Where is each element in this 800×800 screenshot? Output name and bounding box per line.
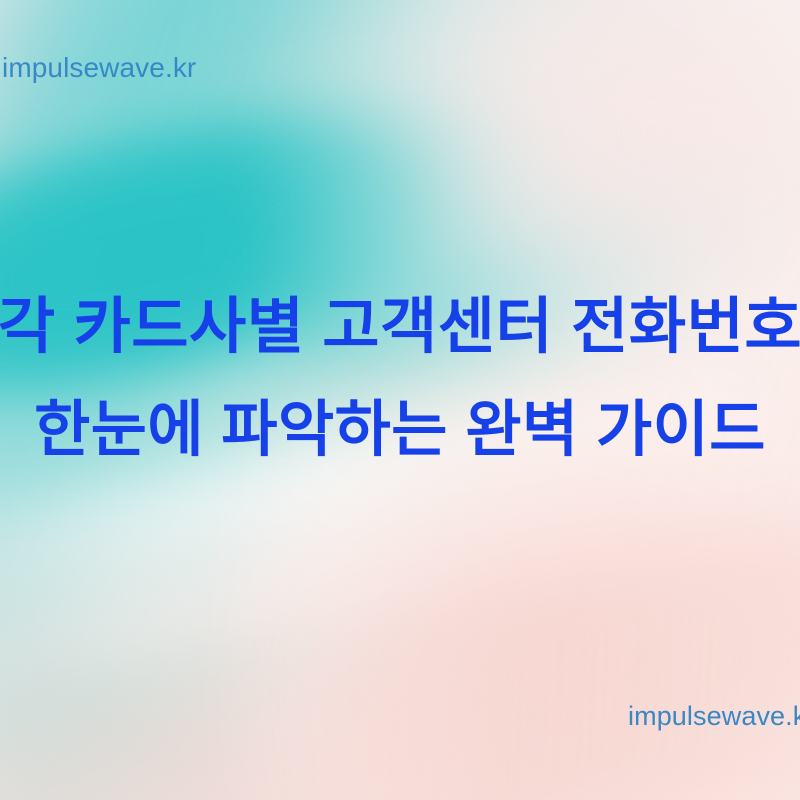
headline: 각 카드사별 고객센터 전화번호 한눈에 파악하는 완벽 가이드 (0, 296, 800, 460)
thumbnail-canvas: impulsewave.kr 각 카드사별 고객센터 전화번호 한눈에 파악하는… (0, 0, 800, 800)
headline-line-2: 한눈에 파악하는 완벽 가이드 (0, 399, 800, 460)
watermark-bottom-right: impulsewave.kr (628, 701, 800, 732)
watermark-top-left: impulsewave.kr (2, 52, 196, 84)
headline-line-1: 각 카드사별 고객센터 전화번호 (0, 296, 800, 357)
